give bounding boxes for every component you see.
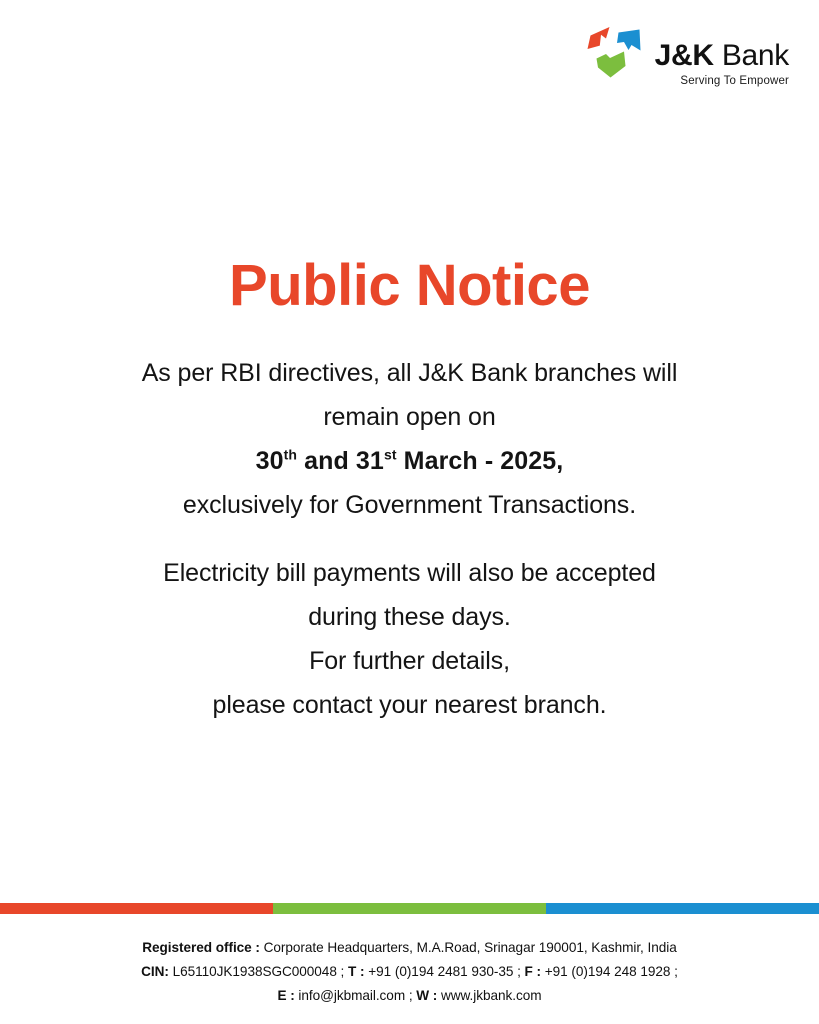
brand-name-jk: J&K (655, 39, 714, 72)
jk-bank-logo: J&K Bank Serving To Empower (584, 22, 789, 88)
brand-color-stripe (0, 903, 819, 914)
notice-line: Electricity bill payments will also be a… (0, 551, 819, 595)
footer-tel-label: T : (348, 964, 364, 979)
brand-tagline: Serving To Empower (680, 74, 789, 88)
public-notice-poster: J&K Bank Serving To Empower Public Notic… (0, 0, 819, 1024)
footer-web-label: W : (416, 988, 437, 1003)
brand-name: J&K Bank (655, 40, 789, 71)
date-second-ordinal: st (384, 447, 397, 463)
footer-tel-value: +91 (0)194 2481 930-35 ; (364, 964, 524, 979)
date-first-number: 30 (256, 447, 284, 475)
jk-bank-logo-mark-icon (584, 23, 646, 81)
footer-email-value[interactable]: info@jkbmail.com ; (295, 988, 417, 1003)
notice-paragraph-3: For further details, please contact your… (0, 639, 819, 727)
notice-line: remain open on (0, 395, 819, 439)
notice-paragraph-1: As per RBI directives, all J&K Bank bran… (0, 351, 819, 527)
notice-line: during these days. (0, 595, 819, 639)
notice-dates-line: 30th and 31st March - 2025, (0, 439, 819, 483)
footer-cin-value: L65110JK1938SGC000048 ; (169, 964, 348, 979)
notice-line: exclusively for Government Transactions. (0, 483, 819, 527)
footer-email-web: E : info@jkbmail.com ; W : www.jkbank.co… (0, 984, 819, 1008)
date-first-ordinal: th (284, 447, 297, 463)
footer-web-value[interactable]: www.jkbank.com (437, 988, 541, 1003)
logo-wordmark: J&K Bank Serving To Empower (655, 40, 789, 88)
notice-line: As per RBI directives, all J&K Bank bran… (0, 351, 819, 395)
stripe-segment-green (273, 903, 546, 914)
date-month-year: March - 2025, (397, 447, 564, 475)
stripe-segment-red (0, 903, 273, 914)
brand-name-bank: Bank (714, 39, 789, 72)
footer: Registered office : Corporate Headquarte… (0, 936, 819, 1008)
stripe-segment-blue (546, 903, 819, 914)
footer-registered-office: Registered office : Corporate Headquarte… (0, 936, 819, 960)
footer-cin-label: CIN: (141, 964, 169, 979)
footer-registered-office-value: Corporate Headquarters, M.A.Road, Srinag… (260, 940, 677, 955)
notice-paragraph-2: Electricity bill payments will also be a… (0, 551, 819, 639)
footer-cin-tel-fax: CIN: L65110JK1938SGC000048 ; T : +91 (0)… (0, 960, 819, 984)
notice-line: please contact your nearest branch. (0, 683, 819, 727)
date-second-number: 31 (356, 447, 384, 475)
footer-fax-value: +91 (0)194 248 1928 ; (541, 964, 678, 979)
page-title: Public Notice (0, 255, 819, 317)
footer-email-label: E : (277, 988, 294, 1003)
date-conjunction: and (297, 447, 356, 475)
notice-line: For further details, (0, 639, 819, 683)
header: J&K Bank Serving To Empower (0, 0, 819, 115)
notice-body: Public Notice As per RBI directives, all… (0, 255, 819, 727)
footer-fax-label: F : (525, 964, 541, 979)
footer-registered-office-label: Registered office : (142, 940, 260, 955)
